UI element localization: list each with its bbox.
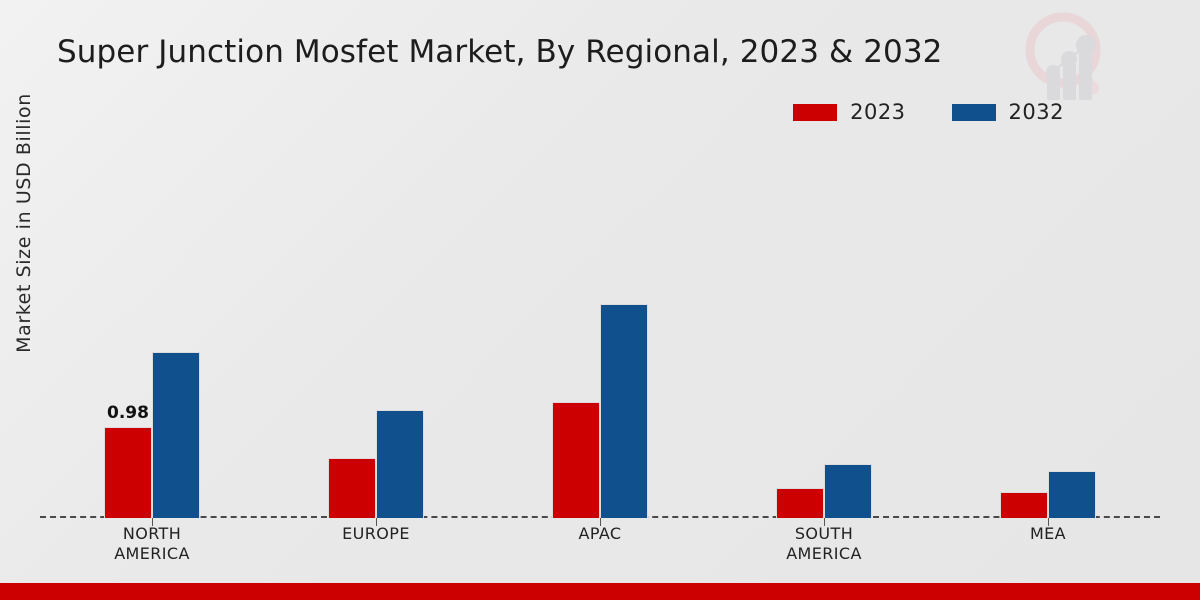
legend-label-2032: 2032 <box>1009 100 1064 124</box>
bar-2032-north-america[interactable] <box>152 352 200 518</box>
chart-legend: 2023 2032 <box>793 100 1064 124</box>
legend-swatch-2032 <box>952 104 996 121</box>
bar-2032-south-america[interactable] <box>824 464 872 518</box>
x-label-line-2: AMERICA <box>40 544 264 564</box>
y-axis-title: Market Size in USD Billion <box>13 53 35 393</box>
x-label-line-1: EUROPE <box>264 524 488 544</box>
bar-2023-south-america[interactable] <box>776 488 824 518</box>
x-label-europe: EUROPE <box>264 524 488 544</box>
bar-value-2023-north-america: 0.98 <box>107 403 149 423</box>
bar-2023-apac[interactable] <box>552 402 600 518</box>
x-label-line-1: SOUTH <box>712 524 936 544</box>
x-label-apac: APAC <box>488 524 712 544</box>
bar-group-south-america: SOUTH AMERICA <box>712 150 936 518</box>
x-label-north-america: NORTH AMERICA <box>40 524 264 564</box>
footer-accent-bar <box>0 583 1200 600</box>
bar-group-mea: MEA <box>936 150 1160 518</box>
bar-2023-north-america[interactable]: 0.98 <box>104 427 152 518</box>
legend-item-2023[interactable]: 2023 <box>793 100 905 124</box>
chart-container: Super Junction Mosfet Market, By Regiona… <box>0 0 1200 600</box>
bar-2032-apac[interactable] <box>600 304 648 518</box>
legend-label-2023: 2023 <box>850 100 905 124</box>
x-label-mea: MEA <box>936 524 1160 544</box>
chart-title: Super Junction Mosfet Market, By Regiona… <box>57 34 943 70</box>
legend-swatch-2023 <box>793 104 837 121</box>
x-label-line-1: MEA <box>936 524 1160 544</box>
x-label-line-1: APAC <box>488 524 712 544</box>
bar-group-europe: EUROPE <box>264 150 488 518</box>
bar-group-north-america: 0.98 NORTH AMERICA <box>40 150 264 518</box>
x-label-south-america: SOUTH AMERICA <box>712 524 936 564</box>
watermark-logo-icon <box>1016 6 1122 106</box>
legend-item-2032[interactable]: 2032 <box>952 100 1064 124</box>
plot-area: 0.98 NORTH AMERICA EUROPE <box>40 150 1160 518</box>
bar-2032-mea[interactable] <box>1048 471 1096 518</box>
bar-2032-europe[interactable] <box>376 410 424 518</box>
x-label-line-1: NORTH <box>40 524 264 544</box>
bar-group-apac: APAC <box>488 150 712 518</box>
bar-2023-mea[interactable] <box>1000 492 1048 518</box>
x-label-line-2: AMERICA <box>712 544 936 564</box>
bar-2023-europe[interactable] <box>328 458 376 518</box>
